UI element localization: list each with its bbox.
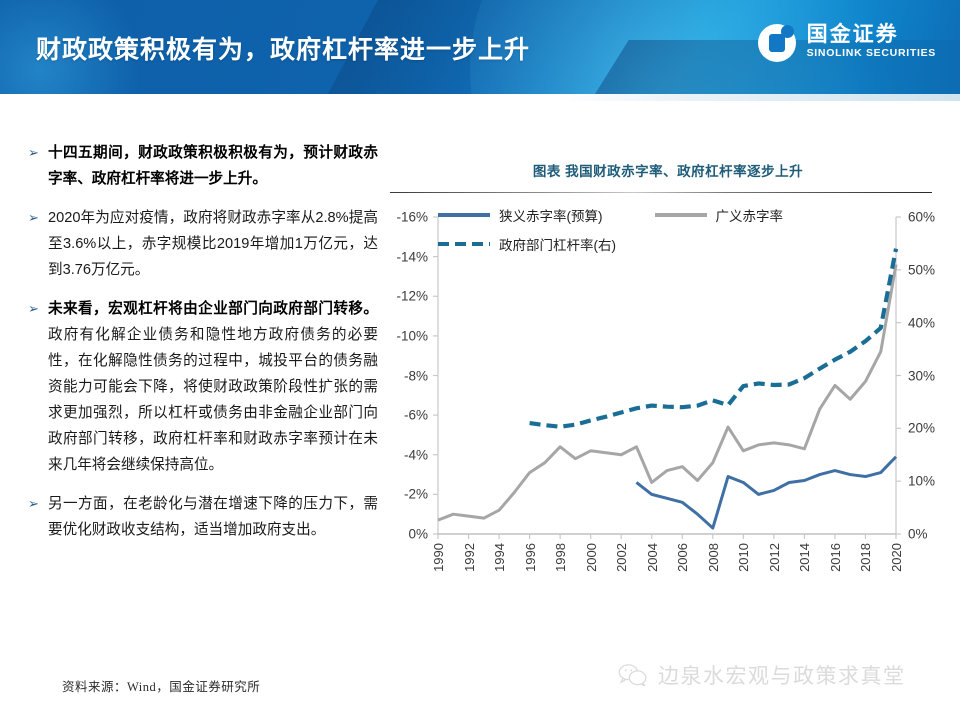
- bullet-arrow-icon: ➢: [26, 491, 48, 543]
- bullet-item: ➢ 十四五期间，财政政策积极积极有为，预计财政赤字率、政府杠杆率将进一步上升。: [26, 140, 378, 192]
- x-axis-tick: 1994: [492, 543, 507, 572]
- legend-item-2: 政府部门杠杆率(右): [438, 234, 616, 254]
- x-axis-tick: 2008: [706, 543, 721, 572]
- x-axis-tick: 1992: [462, 543, 477, 572]
- y-axis-left-tick: -4%: [404, 447, 428, 462]
- y-axis-right-tick: 50%: [908, 262, 935, 277]
- y-axis-left-tick: -16%: [396, 210, 428, 225]
- x-axis-tick: 2006: [675, 543, 690, 572]
- sinolink-logo-icon: [758, 24, 796, 62]
- x-axis-tick: 1990: [431, 543, 446, 572]
- legend-swatch-line: [438, 213, 490, 217]
- y-axis-left-tick: 0%: [408, 527, 428, 542]
- bullet-item: ➢ 未来看，宏观杠杆将由企业部门向政府部门转移。政府有化解企业债务和隐性地方政府…: [26, 296, 378, 478]
- chart-divider: [390, 192, 932, 193]
- bullet-bold-text: 十四五期间，财政政策积极积极有为，预计财政赤字率、政府杠杆率将进一步上升。: [48, 145, 378, 187]
- bullet-text: 未来看，宏观杠杆将由企业部门向政府部门转移。政府有化解企业债务和隐性地方政府债务…: [48, 296, 378, 478]
- chart-plot-area: 狭义赤字率(预算) 广义赤字率 政府部门杠杆率(右) -16%-14%-12%-…: [390, 199, 946, 599]
- bullet-rest-text: 另一方面，在老龄化与潜在增速下降的压力下，需要优化财政收支结构，适当增加政府支出…: [48, 496, 378, 538]
- bullet-text: 十四五期间，财政政策积极积极有为，预计财政赤字率、政府杠杆率将进一步上升。: [48, 140, 378, 192]
- y-axis-left-tick: -8%: [404, 368, 428, 383]
- bullet-text: 2020年为应对疫情，政府将财政赤字率从2.8%提高至3.6%以上，赤字规模比2…: [48, 205, 378, 283]
- x-axis-tick: 2016: [828, 543, 843, 572]
- y-axis-left-tick: -12%: [396, 289, 428, 304]
- legend-label: 政府部门杠杆率(右): [499, 234, 616, 254]
- legend-swatch-dashed: [438, 242, 490, 246]
- y-axis-left-tick: -6%: [404, 408, 428, 423]
- chart-series-2: [530, 249, 896, 427]
- wechat-icon: [618, 664, 648, 686]
- page-title: 财政政策积极有为，政府杠杆率进一步上升: [36, 30, 530, 66]
- chart-legend: 狭义赤字率(预算) 广义赤字率 政府部门杠杆率(右): [438, 205, 858, 263]
- bullet-arrow-icon: ➢: [26, 296, 48, 478]
- y-axis-right-tick: 0%: [908, 527, 928, 542]
- x-axis-tick: 2000: [584, 543, 599, 572]
- y-axis-right-tick: 20%: [908, 421, 935, 436]
- chart-series-1: [438, 265, 896, 521]
- legend-label: 广义赤字率: [716, 205, 784, 225]
- bullet-rest-text: 2020年为应对疫情，政府将财政赤字率从2.8%提高至3.6%以上，赤字规模比2…: [48, 210, 378, 278]
- bullet-text: 另一方面，在老龄化与潜在增速下降的压力下，需要优化财政收支结构，适当增加政府支出…: [48, 491, 378, 543]
- x-axis-tick: 2018: [858, 543, 873, 572]
- y-axis-left-tick: -2%: [404, 487, 428, 502]
- chart-panel: 图表 我国财政赤字率、政府杠杆率逐步上升 狭义赤字率(预算) 广义赤字率 政府部…: [390, 150, 946, 650]
- logo-english-name: SINOLINK SECURITIES: [807, 46, 936, 62]
- x-axis-tick: 2020: [889, 543, 904, 572]
- source-note: 资料来源：Wind，国金证券研究所: [62, 676, 260, 695]
- bullet-bold-text: 未来看，宏观杠杆将由企业部门向政府部门转移。: [48, 301, 378, 317]
- brand-logo: 国金证券 SINOLINK SECURITIES: [758, 24, 936, 62]
- legend-item-1: 广义赤字率: [655, 205, 784, 225]
- x-axis-tick: 2012: [767, 543, 782, 572]
- bullet-arrow-icon: ➢: [26, 140, 48, 192]
- content-bullets: ➢ 十四五期间，财政政策积极积极有为，预计财政赤字率、政府杠杆率将进一步上升。 …: [26, 140, 378, 556]
- legend-label: 狭义赤字率(预算): [499, 205, 603, 225]
- watermark-text: 边泉水宏观与政策求真堂: [658, 660, 906, 690]
- y-axis-left-tick: -14%: [396, 249, 428, 264]
- bullet-rest-text: 政府有化解企业债务和隐性地方政府债务的必要性，在化解隐性债务的过程中，城投平台的…: [48, 327, 378, 473]
- page-header: 财政政策积极有为，政府杠杆率进一步上升 国金证券 SINOLINK SECURI…: [0, 0, 960, 94]
- x-axis-tick: 1998: [553, 543, 568, 572]
- x-axis-tick: 1996: [523, 543, 538, 572]
- header-underline: [0, 94, 960, 101]
- y-axis-right-tick: 40%: [908, 315, 935, 330]
- y-axis-left-tick: -10%: [396, 328, 428, 343]
- y-axis-right-tick: 30%: [908, 368, 935, 383]
- bullet-item: ➢ 另一方面，在老龄化与潜在增速下降的压力下，需要优化财政收支结构，适当增加政府…: [26, 491, 378, 543]
- bullet-item: ➢ 2020年为应对疫情，政府将财政赤字率从2.8%提高至3.6%以上，赤字规模…: [26, 205, 378, 283]
- y-axis-right-tick: 10%: [908, 474, 935, 489]
- y-axis-right-tick: 60%: [908, 210, 935, 225]
- bullet-arrow-icon: ➢: [26, 205, 48, 283]
- watermark: 边泉水宏观与政策求真堂: [618, 660, 906, 690]
- legend-item-0: 狭义赤字率(预算): [438, 205, 603, 225]
- x-axis-tick: 2010: [736, 543, 751, 572]
- chart-title: 图表 我国财政赤字率、政府杠杆率逐步上升: [390, 160, 946, 180]
- legend-swatch-line: [655, 213, 707, 217]
- logo-chinese-name: 国金证券: [807, 24, 936, 46]
- x-axis-tick: 2014: [797, 543, 812, 572]
- x-axis-tick: 2004: [645, 543, 660, 572]
- x-axis-tick: 2002: [614, 543, 629, 572]
